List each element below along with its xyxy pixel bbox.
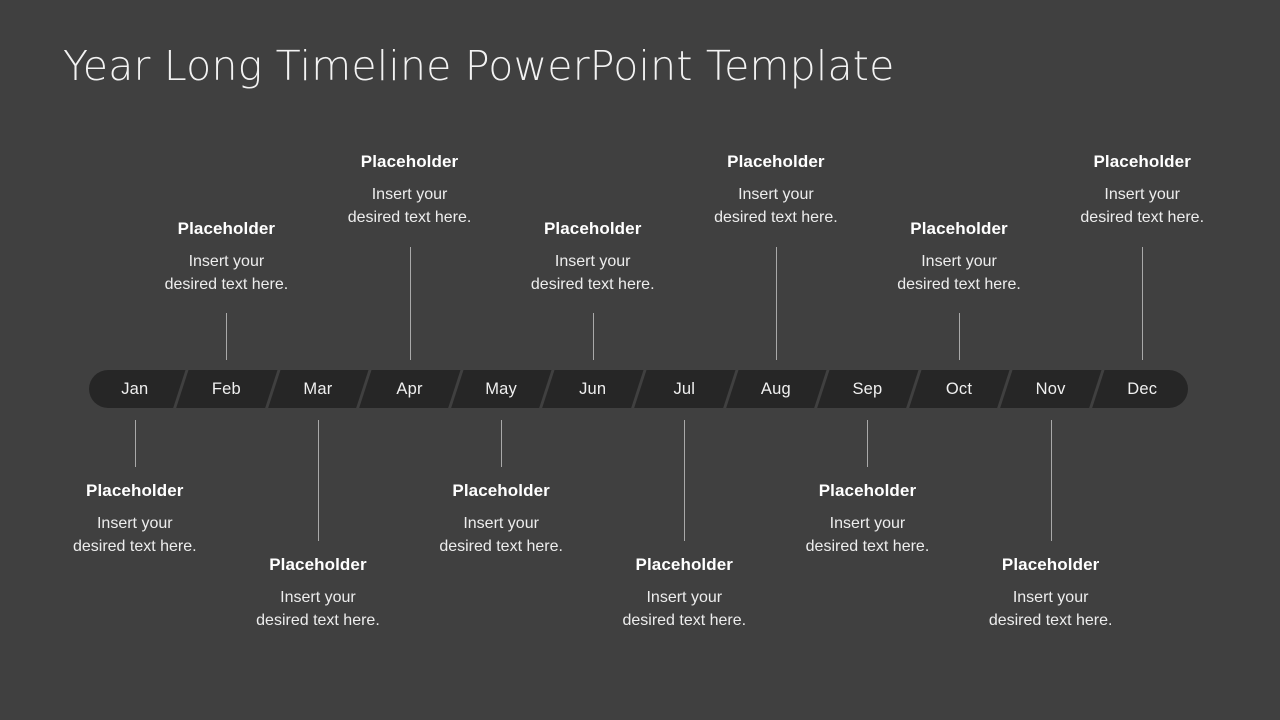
connector-line-feb (226, 313, 227, 360)
month-label: Sep (852, 381, 882, 398)
connector-line-aug (776, 247, 777, 360)
marker-body: Insert your desired text here. (203, 587, 433, 632)
marker-title: Placeholder (295, 152, 525, 172)
timeline-marker-jun[interactable]: PlaceholderInsert your desired text here… (478, 219, 708, 297)
month-label: Apr (396, 381, 422, 398)
timeline-marker-mar[interactable]: PlaceholderInsert your desired text here… (203, 555, 433, 633)
timeline-marker-nov[interactable]: PlaceholderInsert your desired text here… (936, 555, 1166, 633)
connector-line-sep (867, 420, 868, 467)
timeline-marker-feb[interactable]: PlaceholderInsert your desired text here… (111, 219, 341, 297)
marker-body: Insert your desired text here. (1027, 184, 1257, 229)
connector-line-jun (593, 313, 594, 360)
timeline-bar[interactable]: JanFebMarAprMayJunJulAugSepOctNovDec (89, 370, 1188, 408)
timeline-month-nov[interactable]: Nov (1005, 370, 1097, 408)
marker-body: Insert your desired text here. (386, 513, 616, 558)
connector-line-jan (135, 420, 136, 467)
marker-body: Insert your desired text here. (111, 251, 341, 296)
timeline-month-feb[interactable]: Feb (181, 370, 273, 408)
month-label: Jul (673, 381, 695, 398)
marker-body: Insert your desired text here. (752, 513, 982, 558)
connector-line-dec (1142, 247, 1143, 360)
timeline-marker-may[interactable]: PlaceholderInsert your desired text here… (386, 481, 616, 559)
timeline-month-aug[interactable]: Aug (730, 370, 822, 408)
timeline-month-sep[interactable]: Sep (822, 370, 914, 408)
marker-body: Insert your desired text here. (569, 587, 799, 632)
connector-line-nov (1051, 420, 1052, 541)
month-label: Jun (579, 381, 606, 398)
month-label: Nov (1036, 381, 1066, 398)
timeline-marker-jul[interactable]: PlaceholderInsert your desired text here… (569, 555, 799, 633)
timeline-marker-sep[interactable]: PlaceholderInsert your desired text here… (752, 481, 982, 559)
connector-line-oct (959, 313, 960, 360)
timeline-month-oct[interactable]: Oct (913, 370, 1005, 408)
timeline-month-jun[interactable]: Jun (547, 370, 639, 408)
connector-line-mar (318, 420, 319, 541)
month-label: Mar (303, 381, 332, 398)
month-label: Oct (946, 381, 972, 398)
marker-body: Insert your desired text here. (844, 251, 1074, 296)
timeline-month-mar[interactable]: Mar (272, 370, 364, 408)
connector-line-jul (684, 420, 685, 541)
timeline-marker-dec[interactable]: PlaceholderInsert your desired text here… (1027, 152, 1257, 230)
timeline-marker-jan[interactable]: PlaceholderInsert your desired text here… (20, 481, 250, 559)
marker-title: Placeholder (752, 481, 982, 501)
month-label: Dec (1127, 381, 1157, 398)
marker-body: Insert your desired text here. (936, 587, 1166, 632)
timeline-month-jul[interactable]: Jul (639, 370, 731, 408)
marker-body: Insert your desired text here. (20, 513, 250, 558)
marker-title: Placeholder (936, 555, 1166, 575)
marker-title: Placeholder (1027, 152, 1257, 172)
timeline-month-jan[interactable]: Jan (89, 370, 181, 408)
slide-canvas: Year Long Timeline PowerPoint Template P… (0, 0, 1280, 720)
month-label: Aug (761, 381, 791, 398)
month-label: Jan (121, 381, 148, 398)
timeline-month-apr[interactable]: Apr (364, 370, 456, 408)
connector-line-apr (410, 247, 411, 360)
marker-title: Placeholder (661, 152, 891, 172)
month-label: May (485, 381, 517, 398)
timeline-marker-oct[interactable]: PlaceholderInsert your desired text here… (844, 219, 1074, 297)
month-label: Feb (212, 381, 241, 398)
timeline-month-may[interactable]: May (455, 370, 547, 408)
marker-title: Placeholder (20, 481, 250, 501)
marker-body: Insert your desired text here. (478, 251, 708, 296)
timeline-month-dec[interactable]: Dec (1096, 370, 1188, 408)
marker-title: Placeholder (386, 481, 616, 501)
page-title: Year Long Timeline PowerPoint Template (63, 42, 895, 90)
connector-line-may (501, 420, 502, 467)
